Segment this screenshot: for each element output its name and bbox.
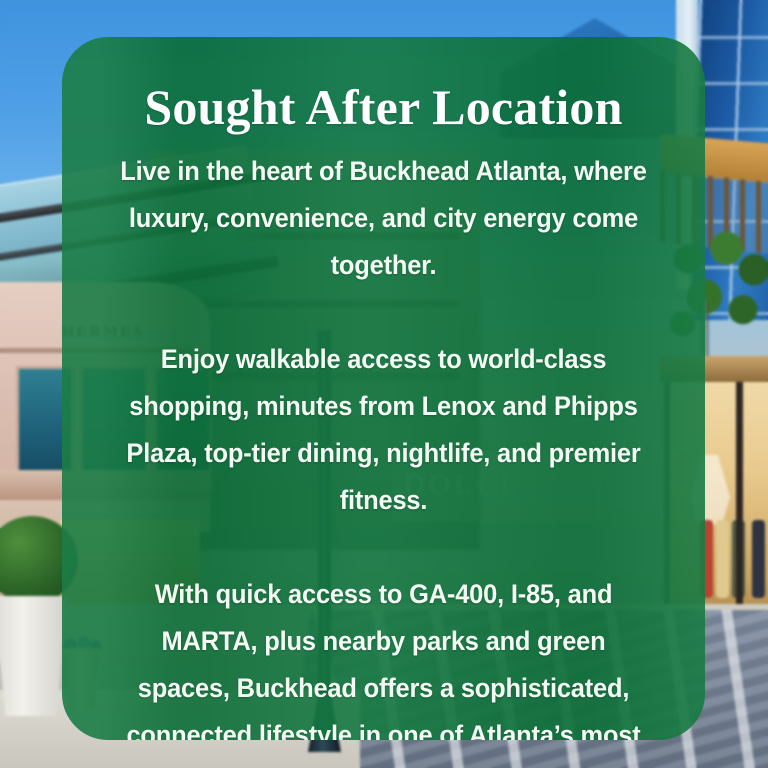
paragraph-intro: Live in the heart of Buckhead Atlanta, w…	[113, 148, 653, 289]
paragraph-access: With quick access to GA-400, I-85, and M…	[113, 571, 653, 740]
clothing-rack	[716, 520, 729, 598]
paragraph-shopping: Enjoy walkable access to world-class sho…	[113, 336, 653, 524]
page-title: Sought After Location	[102, 81, 665, 134]
window-mullion	[736, 382, 743, 642]
green-overlay-card: Sought After Location Live in the heart …	[62, 37, 705, 740]
promo-graphic: DOLCE HERMES	[0, 0, 768, 768]
clothing-rack	[752, 520, 765, 598]
